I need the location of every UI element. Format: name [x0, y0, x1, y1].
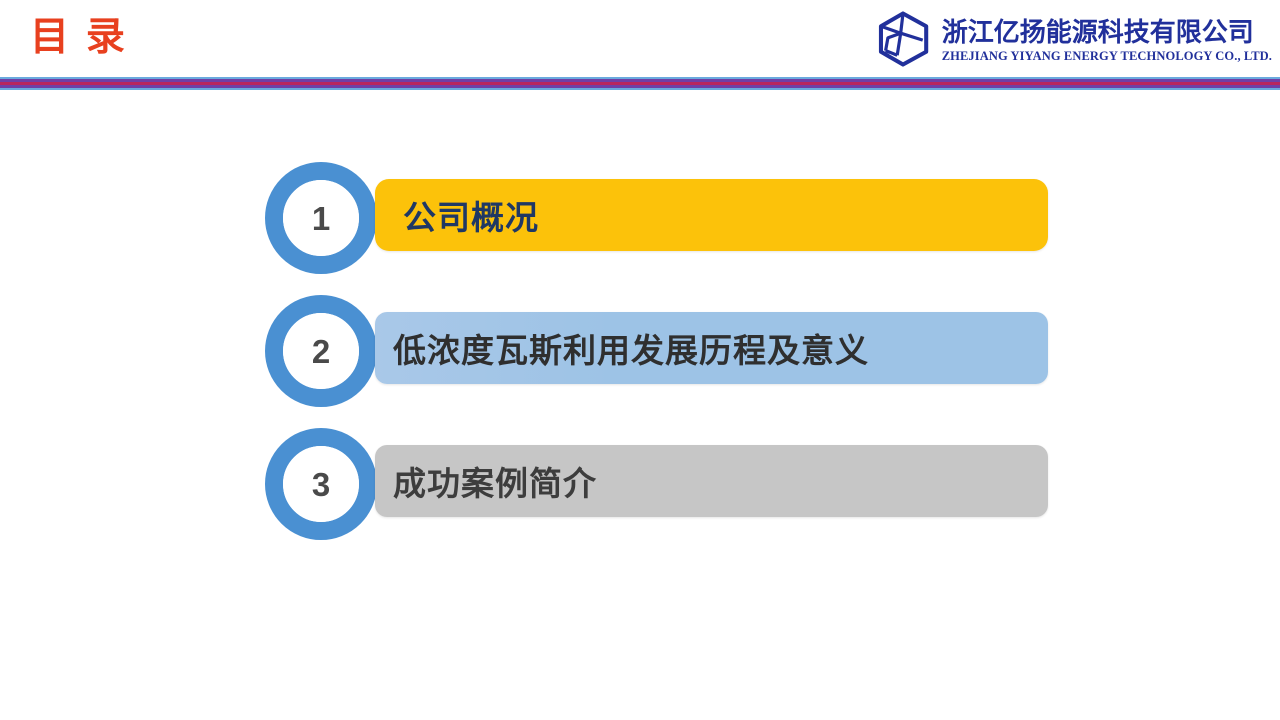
agenda-number-2: 2 [312, 335, 330, 368]
agenda-number-3: 3 [312, 468, 330, 501]
agenda-bar-1[interactable] [375, 179, 1048, 251]
agenda-number-1: 1 [312, 202, 330, 235]
agenda-number-badge-3: 3 [283, 446, 359, 522]
agenda-bar-2[interactable] [375, 312, 1048, 384]
agenda-number-badge-2: 2 [283, 313, 359, 389]
agenda-item-3[interactable]: 3 成功案例简介 [265, 428, 1055, 540]
agenda-list: 1 公司概况 2 低浓度瓦斯利用发展历程及意义 3 成功案例简介 [0, 0, 1280, 720]
agenda-item-2[interactable]: 2 低浓度瓦斯利用发展历程及意义 [265, 295, 1055, 407]
agenda-number-badge-1: 1 [283, 180, 359, 256]
agenda-bar-3[interactable] [375, 445, 1048, 517]
agenda-item-1[interactable]: 1 公司概况 [265, 162, 1055, 274]
